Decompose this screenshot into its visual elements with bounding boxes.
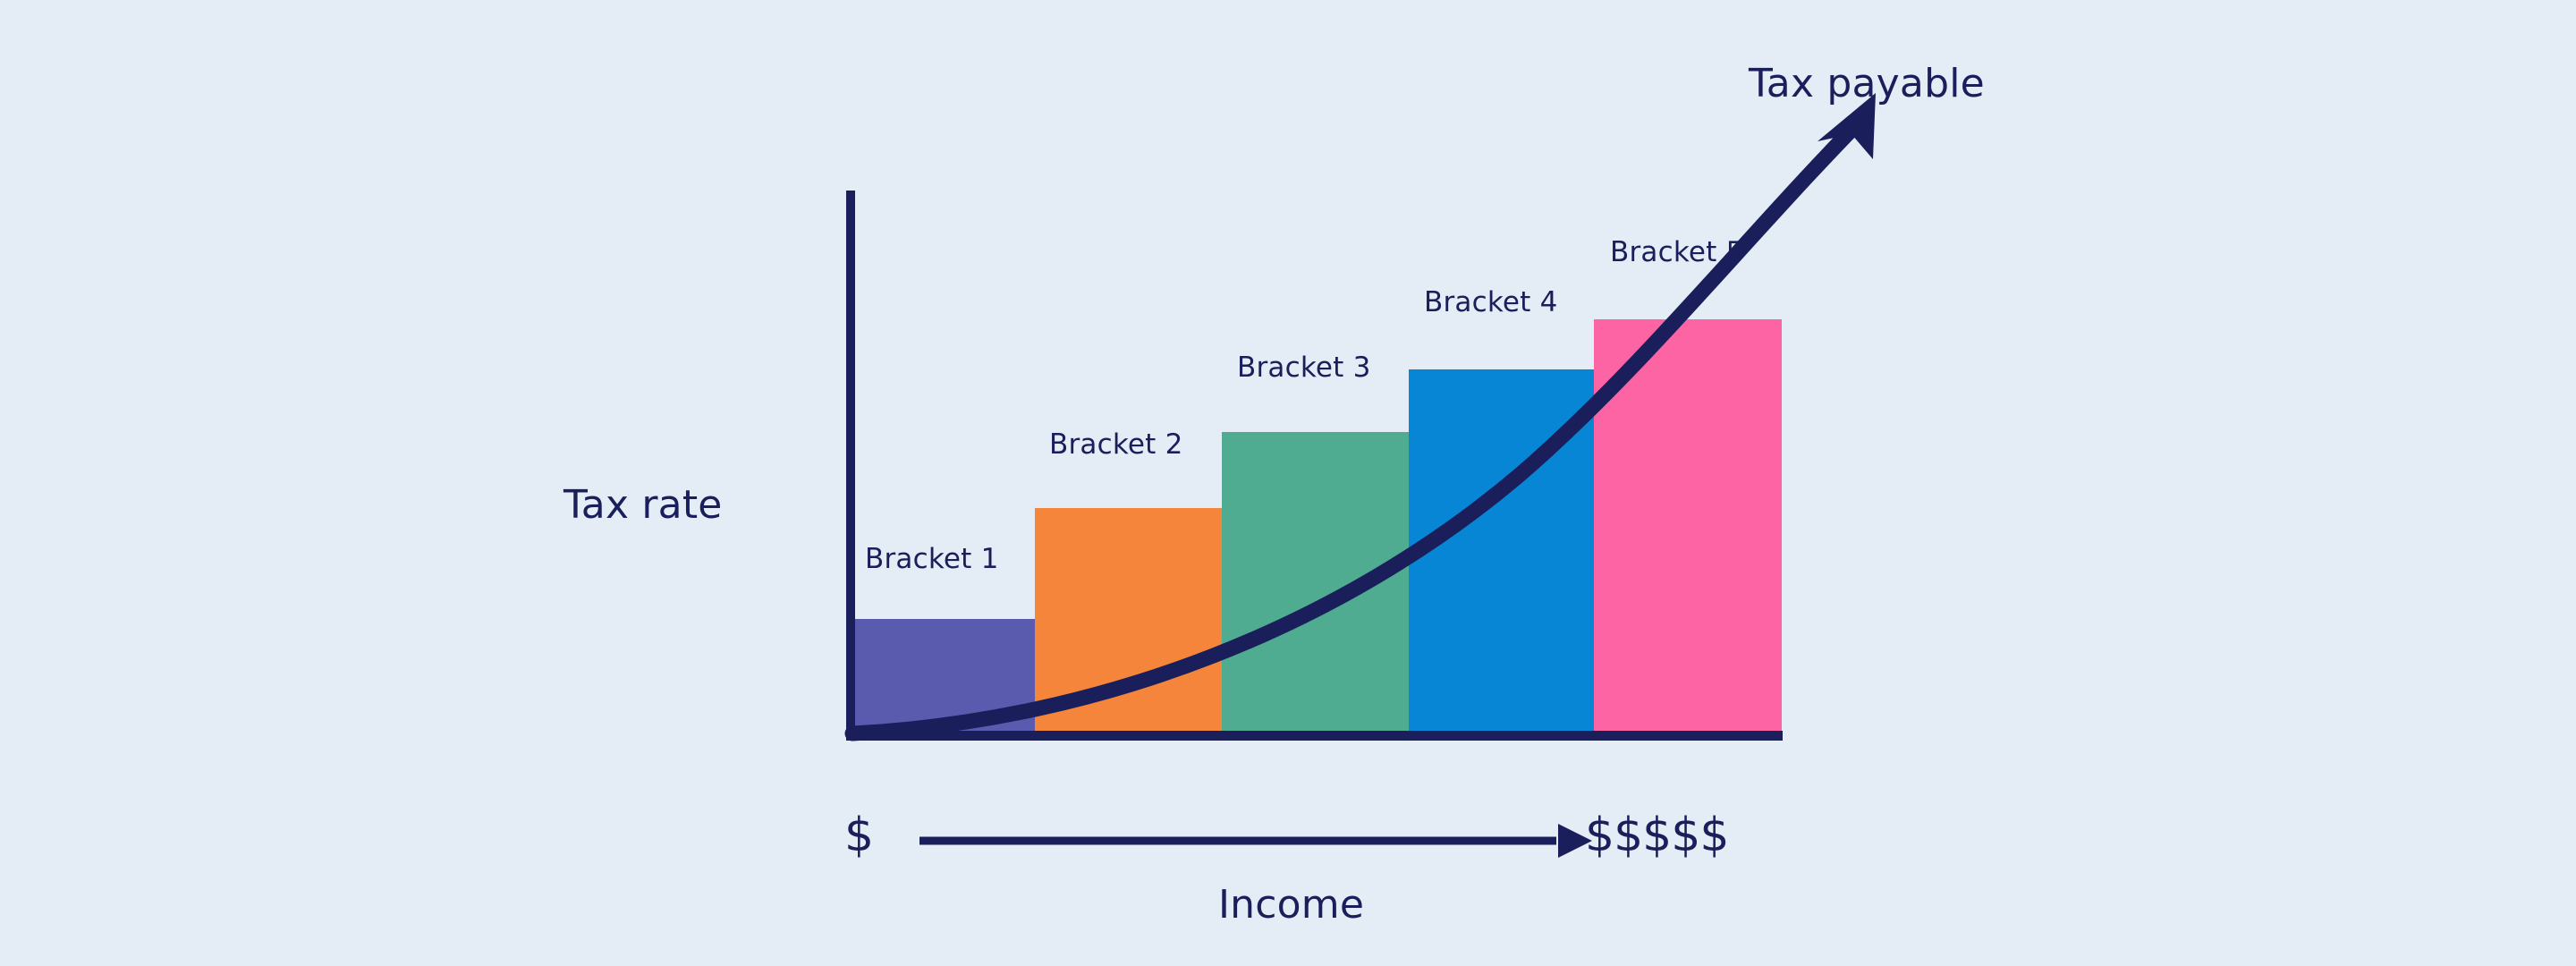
x-axis-high-label: $$$$$ (1585, 812, 1728, 859)
bar-label-bracket-5: Bracket 5 (1610, 239, 1744, 267)
y-axis-title: Tax rate (563, 486, 723, 525)
bar-label-bracket-3: Bracket 3 (1237, 354, 1371, 382)
bar-label-bracket-4: Bracket 4 (1424, 289, 1558, 317)
x-axis-line (846, 731, 1783, 741)
income-direction-arrow (919, 824, 1592, 858)
chart-canvas: Bracket 1 Bracket 2 Bracket 3 Bracket 4 … (0, 0, 2576, 966)
y-axis-line (846, 191, 855, 738)
tax-payable-curve-label: Tax payable (1749, 64, 1985, 104)
bar-label-bracket-1: Bracket 1 (865, 546, 999, 573)
bar-bracket-3 (1222, 432, 1409, 735)
x-axis-title: Income (1218, 885, 1364, 925)
bar-label-bracket-2: Bracket 2 (1049, 431, 1183, 459)
x-axis-low-label: $ (844, 812, 873, 859)
tax-bracket-chart (0, 0, 2576, 966)
